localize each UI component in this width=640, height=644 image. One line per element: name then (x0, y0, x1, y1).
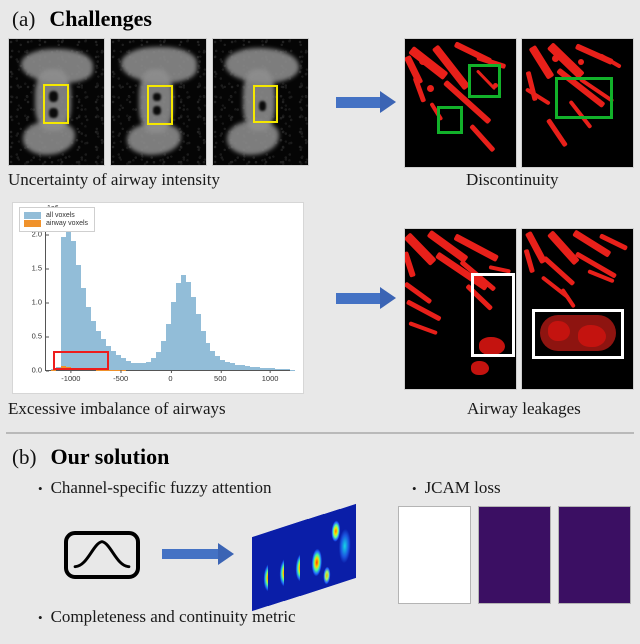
ct-roi-box-1 (43, 84, 69, 124)
leakage-box-2 (532, 309, 624, 359)
leakage-render-right (521, 228, 634, 390)
bullet-label: Channel-specific fuzzy attention (51, 478, 272, 498)
airway-tree (405, 39, 516, 167)
panel-a-header: (a) Challenges (12, 6, 152, 32)
fuzzy-membership-icon (64, 531, 140, 579)
discontinuity-box-1 (468, 64, 501, 98)
histogram-legend: all voxels airway voxels (19, 207, 95, 232)
bullet-label: JCAM loss (425, 478, 501, 498)
panel-b-header: (b) Our solution (12, 444, 169, 470)
bullet-completeness-metric: • Completeness and continuity metric (38, 607, 296, 627)
jcam-view-3 (558, 506, 631, 604)
y-tick-label: 1.5 (32, 264, 46, 273)
bullet-jcam-loss: • JCAM loss (412, 478, 501, 498)
discontinuity-box-2 (437, 106, 463, 134)
caption-leakages: Airway leakages (467, 399, 581, 419)
arrow-right-1 (336, 91, 398, 113)
histogram-chart: 1e6 0.00.51.01.52.0 -1000-50005001000 al… (12, 202, 304, 394)
histogram-plot-area: 0.00.51.01.52.0 -1000-50005001000 (45, 217, 295, 371)
bullet-dot-icon: • (38, 482, 43, 495)
bell-curve-icon (68, 535, 136, 575)
panel-divider (6, 432, 634, 434)
jcam-view-1 (398, 506, 471, 604)
bullet-label: Completeness and continuity metric (51, 607, 296, 627)
bullet-fuzzy-attention: • Channel-specific fuzzy attention (38, 478, 271, 498)
panel-b-tag: (b) (12, 445, 37, 470)
legend-label-all-voxels: all voxels (46, 212, 75, 219)
y-tick-label: 1.0 (32, 298, 46, 307)
x-tick-label: -1000 (61, 370, 80, 383)
arrow-right-3 (162, 543, 240, 565)
ct-slice-1 (8, 38, 105, 166)
legend-item-airway-voxels: airway voxels (24, 220, 88, 227)
caption-ct-slices: Uncertainty of airway intensity (8, 170, 220, 190)
histogram-highlight-box (53, 351, 109, 370)
x-tick-label: -500 (113, 370, 128, 383)
legend-swatch-airway-voxels (24, 220, 41, 227)
jcam-background (399, 507, 470, 603)
bullet-dot-icon: • (412, 482, 417, 495)
x-tick-label: 500 (214, 370, 227, 383)
ct-slice-3 (212, 38, 309, 166)
panel-a-title: Challenges (49, 6, 152, 32)
x-tick-label: 0 (168, 370, 172, 383)
caption-histogram: Excessive imbalance of airways (8, 399, 226, 419)
jcam-background (479, 507, 550, 603)
leakage-box-1 (471, 273, 515, 357)
discontinuity-render-right (521, 38, 634, 168)
leakage-blob-2 (471, 361, 489, 375)
panel-a-tag: (a) (12, 7, 35, 32)
x-tick-label: 1000 (262, 370, 279, 383)
jcam-view-2 (478, 506, 551, 604)
ct-roi-box-3 (253, 85, 278, 123)
legend-swatch-all-voxels (24, 212, 41, 219)
histogram-bars (46, 217, 295, 370)
leakage-render-left (404, 228, 517, 390)
arrow-right-2 (336, 287, 398, 309)
caption-discontinuity: Discontinuity (466, 170, 559, 190)
ct-roi-box-2 (147, 85, 173, 125)
attention-feature-maps (252, 512, 362, 604)
figure-root: (a) Challenges Uncertainty of airway int… (0, 0, 640, 644)
y-tick-label: 0.0 (32, 366, 46, 375)
legend-label-airway-voxels: airway voxels (46, 220, 88, 227)
y-tick-label: 0.5 (32, 332, 46, 341)
discontinuity-box-3 (555, 77, 613, 119)
bullet-dot-icon: • (38, 611, 43, 624)
panel-b-title: Our solution (51, 444, 170, 470)
discontinuity-render-left (404, 38, 517, 168)
legend-item-all-voxels: all voxels (24, 212, 88, 219)
ct-slice-2 (110, 38, 207, 166)
jcam-background (559, 507, 630, 603)
histogram-bin (290, 217, 295, 370)
